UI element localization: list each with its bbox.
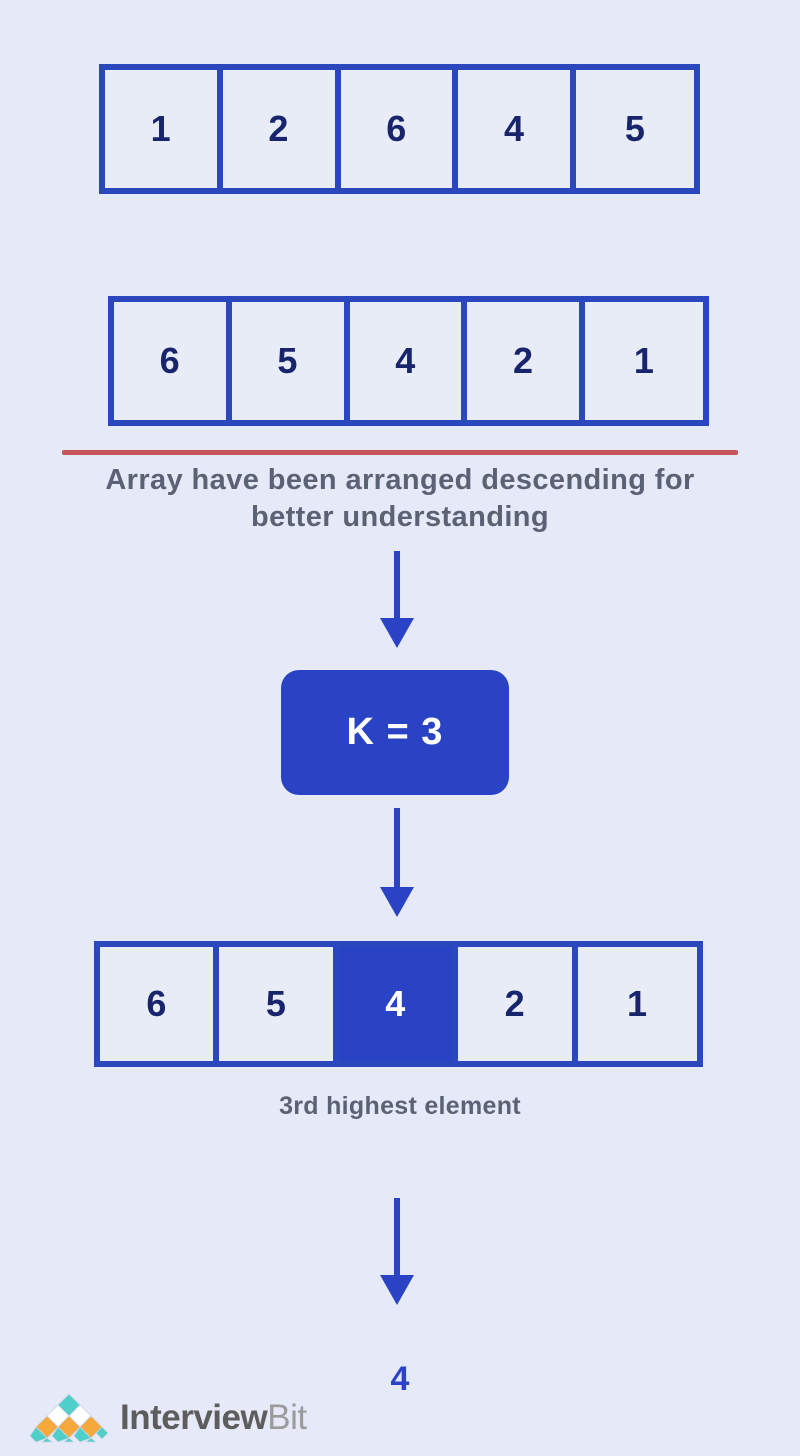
interviewbit-logo-text: InterviewBit [120,1398,307,1438]
array-cell: 6 [341,70,459,188]
arrow-down-icon [380,808,414,917]
arrow-head [380,618,414,648]
arrow-shaft [394,1198,400,1276]
k-value-box: K = 3 [281,670,509,795]
arrow-down-icon [380,551,414,648]
array-cell: 4 [458,70,576,188]
array-cell-highlighted: 4 [339,947,458,1061]
arrow-down-icon [380,1198,414,1305]
array-cell: 6 [114,302,232,420]
original-array: 1 2 6 4 5 [99,64,700,194]
interviewbit-logo-mark [28,1392,110,1444]
final-answer-value: 4 [300,1360,500,1399]
array-cell: 1 [105,70,223,188]
arrow-shaft [394,808,400,888]
array-cell: 2 [458,947,577,1061]
array-cell: 6 [100,947,219,1061]
descending-caption: Array have been arranged descending for … [60,462,740,536]
result-array: 6 5 4 2 1 [94,941,703,1067]
array-cell: 4 [350,302,468,420]
array-cell: 2 [467,302,585,420]
kth-element-caption: 3rd highest element [200,1090,600,1122]
logo-word-bit: Bit [267,1398,306,1437]
array-cell: 5 [219,947,338,1061]
array-cell: 1 [578,947,697,1061]
arrow-head [380,1275,414,1305]
descending-sorted-array: 6 5 4 2 1 [108,296,709,426]
arrow-shaft [394,551,400,619]
array-cell: 2 [223,70,341,188]
logo-word-interview: Interview [120,1398,267,1437]
array-cell: 1 [585,302,703,420]
array-cell: 5 [576,70,694,188]
interviewbit-logo: InterviewBit [28,1392,307,1444]
array-cell: 5 [232,302,350,420]
divider-line [62,450,738,455]
arrow-head [380,887,414,917]
